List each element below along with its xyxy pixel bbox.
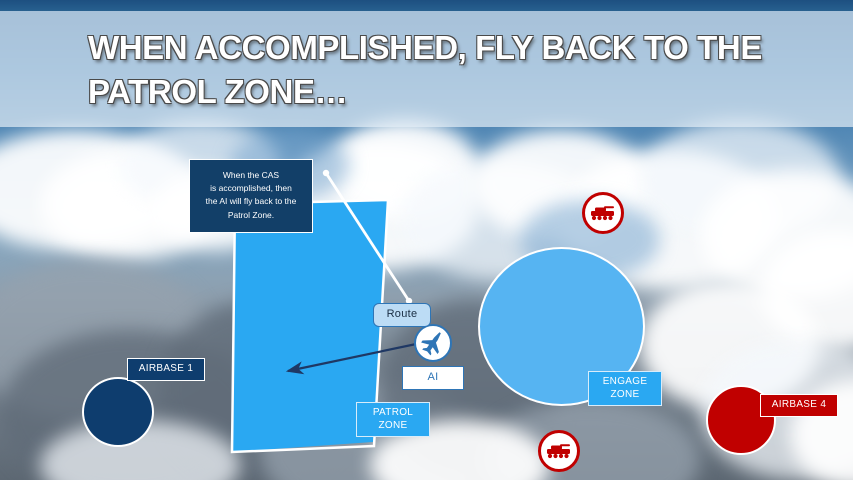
top-accent-strip bbox=[0, 0, 853, 11]
engage-zone-label[interactable]: ENGAGE ZONE bbox=[588, 371, 662, 406]
route-label[interactable]: Route bbox=[373, 303, 431, 327]
airbase-1-shape[interactable] bbox=[82, 377, 154, 447]
airbase-1-label[interactable]: AIRBASE 1 bbox=[127, 358, 205, 381]
slide: WHEN ACCOMPLISHED, FLY BACK TO THE PATRO… bbox=[0, 0, 853, 480]
fighter-jet-icon[interactable] bbox=[414, 324, 452, 362]
airbase-4-label[interactable]: AIRBASE 4 bbox=[760, 394, 838, 417]
tank-glyph bbox=[546, 443, 572, 459]
tank-target-icon[interactable] bbox=[538, 430, 580, 472]
callout-box: When the CAS is accomplished, then the A… bbox=[189, 159, 313, 233]
patrol-zone-label[interactable]: PATROL ZONE bbox=[356, 402, 430, 437]
ai-label[interactable]: AI bbox=[402, 366, 464, 390]
tank-target-icon[interactable] bbox=[582, 192, 624, 234]
tank-glyph bbox=[590, 205, 616, 221]
jet-glyph bbox=[419, 329, 447, 357]
page-title: WHEN ACCOMPLISHED, FLY BACK TO THE PATRO… bbox=[88, 26, 788, 113]
